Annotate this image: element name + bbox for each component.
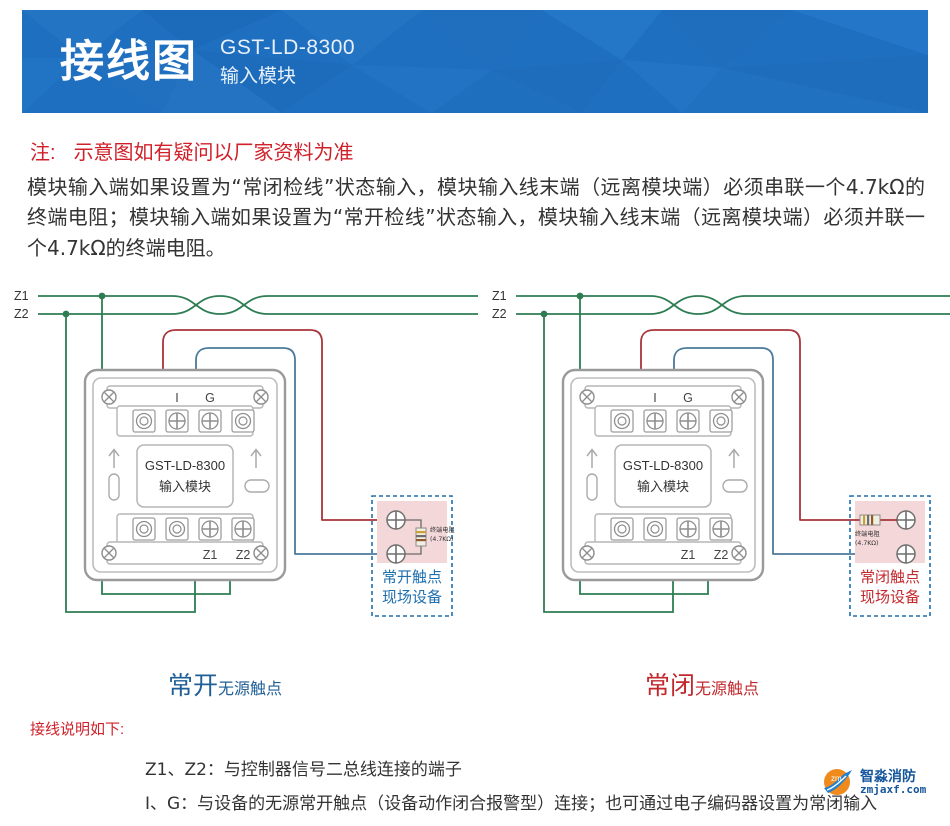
bus-label-z2-left: Z2 (14, 307, 29, 321)
body-paragraph: 模块输入端如果设置为“常闭检线”状态输入，模块输入线末端（远离模块端）必须串联一… (27, 172, 925, 263)
caption-normally-open: 常开无源触点 (168, 666, 282, 702)
wiring-diagram-svg: Z1 Z2 (0, 282, 950, 712)
resistor-label-line1-left: 终端电阻 (430, 526, 455, 534)
caption-no-small: 无源触点 (218, 679, 282, 698)
field-device-normally-open: 终端电阻 (4.7KΩ) 常开触点 现场设备 (372, 496, 455, 616)
note-label: 注: (30, 142, 56, 164)
page-title: 接线图 (60, 40, 198, 84)
bus-label-z1-left: Z1 (14, 289, 29, 303)
terminal-label-g-left: G (205, 391, 215, 405)
watermark-text: 智淼消防 zmjaxf.com (860, 769, 926, 795)
module-left-model: GST-LD-8300 (145, 458, 225, 473)
bus-label-z1-right: Z1 (492, 289, 507, 303)
device-post-bottom-right-dev (897, 545, 915, 563)
device-caption-line2-right: 现场设备 (860, 588, 920, 606)
watermark-url: zmjaxf.com (860, 784, 926, 796)
caption-nc-big: 常闭 (645, 671, 695, 700)
device-post-bottom-left-dev (387, 545, 405, 563)
note-row: 注:示意图如有疑问以厂家资料为准 (30, 136, 354, 165)
device-caption-line1-right: 常闭触点 (860, 568, 920, 586)
terminal-label-z1-left: Z1 (203, 548, 218, 562)
device-post-top-left-dev (387, 511, 405, 529)
terminal-label-z2-right: Z2 (714, 548, 729, 562)
device-caption-line1-left: 常开触点 (382, 568, 442, 586)
note-text: 示意图如有疑问以厂家资料为准 (74, 142, 354, 164)
resistor-label-line2-right: (4.7KΩ) (855, 540, 878, 547)
terminating-resistor-left (416, 528, 426, 546)
module-left-name: 输入模块 (159, 479, 211, 495)
resistor-label-line1-right: 终端电阻 (855, 530, 880, 538)
wiring-diagram-area: Z1 Z2 (0, 282, 950, 712)
header-model: GST-LD-8300 (220, 33, 355, 63)
module-right-name: 输入模块 (637, 479, 689, 495)
caption-no-big: 常开 (168, 671, 218, 700)
device-caption-line2-left: 现场设备 (382, 588, 442, 606)
terminal-label-i-left: I (175, 391, 178, 405)
header-product-name: 输入模块 (220, 63, 355, 91)
svg-text:zm: zm (831, 774, 842, 783)
watermark: zm 智淼消防 zmjaxf.com (822, 758, 944, 806)
device-post-top-right-dev (897, 511, 915, 529)
footer-line-ig: I、G：与设备的无源常开触点（设备动作闭合报警型）连接；也可通过电子编码器设置为… (145, 789, 877, 814)
header-banner: 接线图 GST-LD-8300 输入模块 (22, 10, 928, 113)
bus-label-z2-right: Z2 (492, 307, 507, 321)
caption-nc-small: 无源触点 (695, 679, 759, 698)
terminal-label-z1-right: Z1 (681, 548, 696, 562)
caption-normally-closed: 常闭无源触点 (645, 666, 759, 702)
resistor-label-line2-left: (4.7KΩ) (430, 536, 453, 543)
module-left: I G Z1 Z2 GST-LD-8300 输入模块 (85, 370, 285, 580)
header-subtitle: GST-LD-8300 输入模块 (220, 33, 355, 91)
watermark-brand: 智淼消防 (860, 769, 926, 784)
field-device-normally-closed: 终端电阻 (4.7KΩ) 常闭触点 现场设备 (850, 496, 930, 616)
brand-logo-icon: zm (822, 768, 856, 796)
terminal-label-z2-left: Z2 (236, 548, 251, 562)
diagram-normally-open: Z1 Z2 (14, 289, 478, 616)
module-right: I G Z1 Z2 GST-LD-8300 输入模块 (563, 370, 763, 580)
footer-line-z1z2: Z1、Z2：与控制器信号二总线连接的端子 (145, 755, 462, 780)
module-right-model: GST-LD-8300 (623, 458, 703, 473)
footer-title: 接线说明如下: (30, 718, 124, 739)
terminal-label-g-right: G (683, 391, 693, 405)
diagram-normally-closed: Z1 Z2 I G Z1 (492, 289, 950, 616)
terminal-label-i-right: I (653, 391, 656, 405)
